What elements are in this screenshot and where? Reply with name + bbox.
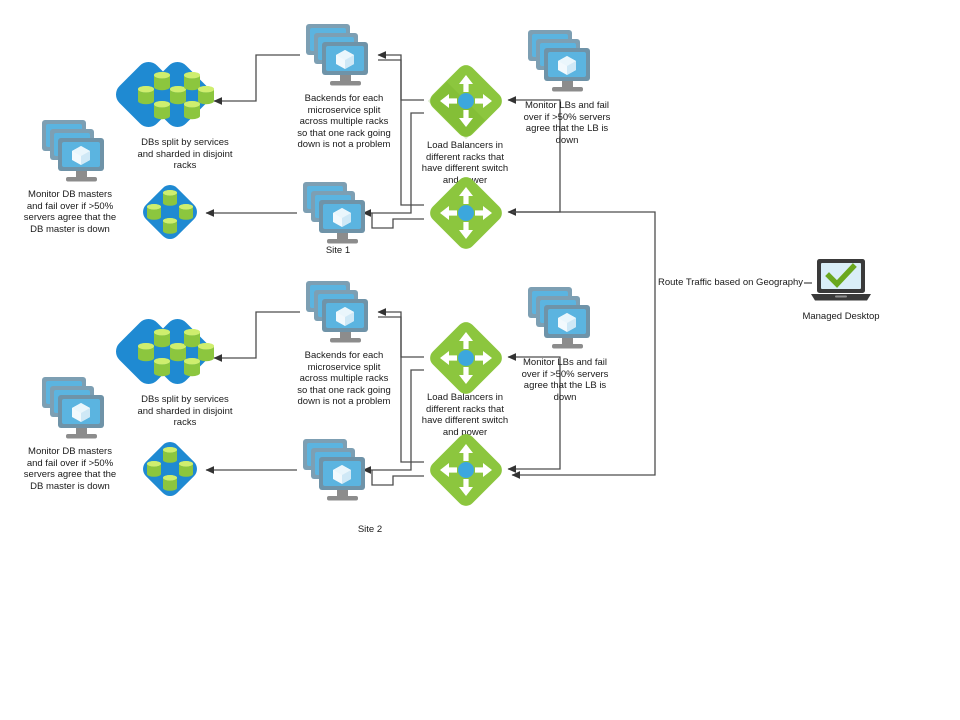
site-1-backend-stack-1[interactable] bbox=[300, 22, 378, 94]
managed-desktop[interactable] bbox=[810, 258, 872, 306]
monitor-stack-icon bbox=[297, 437, 375, 509]
site-1-lb-monitor-caption: Monitor LBs and fail over if >50% server… bbox=[512, 100, 622, 146]
site-2-load-balancer-2[interactable] bbox=[424, 433, 508, 507]
load-balancer-icon bbox=[424, 176, 508, 250]
monitor-stack-icon bbox=[297, 180, 375, 252]
monitor-stack-icon bbox=[300, 279, 378, 351]
site-1-load-balancer-1[interactable] bbox=[424, 64, 508, 138]
site-1-db-cluster-secondary[interactable] bbox=[138, 182, 206, 246]
wire-s2-lb2-to-backend2 bbox=[372, 470, 424, 485]
site-2-load-balancer-1[interactable] bbox=[424, 321, 508, 395]
laptop-check-icon bbox=[810, 258, 872, 306]
database-cluster-icon bbox=[110, 56, 216, 146]
site-1-db-caption: DBs split by services and sharded in dis… bbox=[120, 137, 250, 172]
site-2-db-cluster-secondary[interactable] bbox=[138, 439, 206, 503]
site-2-backend-stack-1[interactable] bbox=[300, 279, 378, 351]
database-cluster-icon bbox=[110, 313, 216, 403]
site-1-db-monitor-caption: Monitor DB masters and fail over if >50%… bbox=[10, 189, 130, 235]
site-1-load-balancer-2[interactable] bbox=[424, 176, 508, 250]
database-cluster-icon bbox=[138, 439, 206, 503]
monitor-stack-icon bbox=[522, 285, 600, 357]
site-2-db-caption: DBs split by services and sharded in dis… bbox=[120, 394, 250, 429]
wire-s1-lb2-to-backend2 bbox=[372, 213, 424, 228]
monitor-stack-icon bbox=[522, 28, 600, 100]
site-2-db-monitor-stack[interactable] bbox=[36, 375, 114, 447]
site-1-lb-monitor-stack[interactable] bbox=[522, 28, 600, 100]
load-balancer-icon bbox=[424, 321, 508, 395]
load-balancer-icon bbox=[424, 64, 508, 138]
site-2-db-cluster[interactable] bbox=[110, 313, 216, 403]
site-1-backend-caption: Backends for each microservice split acr… bbox=[278, 93, 410, 151]
monitor-stack-icon bbox=[36, 375, 114, 447]
geo-route-label: Route Traffic based on Geography bbox=[657, 277, 804, 288]
load-balancer-icon bbox=[424, 433, 508, 507]
site-1-label: Site 1 bbox=[316, 245, 360, 257]
site-2-label: Site 2 bbox=[348, 524, 392, 536]
site-2-lb-monitor-caption: Monitor LBs and fail over if >50% server… bbox=[510, 357, 620, 403]
monitor-stack-icon bbox=[36, 118, 114, 190]
database-cluster-icon bbox=[138, 182, 206, 246]
managed-desktop-label: Managed Desktop bbox=[786, 311, 896, 323]
site-2-db-monitor-caption: Monitor DB masters and fail over if >50%… bbox=[10, 446, 130, 492]
site-1-backend-stack-2[interactable] bbox=[297, 180, 375, 252]
site-2-backend-stack-2[interactable] bbox=[297, 437, 375, 509]
site-1-db-cluster[interactable] bbox=[110, 56, 216, 146]
monitor-stack-icon bbox=[300, 22, 378, 94]
site-2-backend-caption: Backends for each microservice split acr… bbox=[278, 350, 410, 408]
site-1-db-monitor-stack[interactable] bbox=[36, 118, 114, 190]
site-2-lb-monitor-stack[interactable] bbox=[522, 285, 600, 357]
